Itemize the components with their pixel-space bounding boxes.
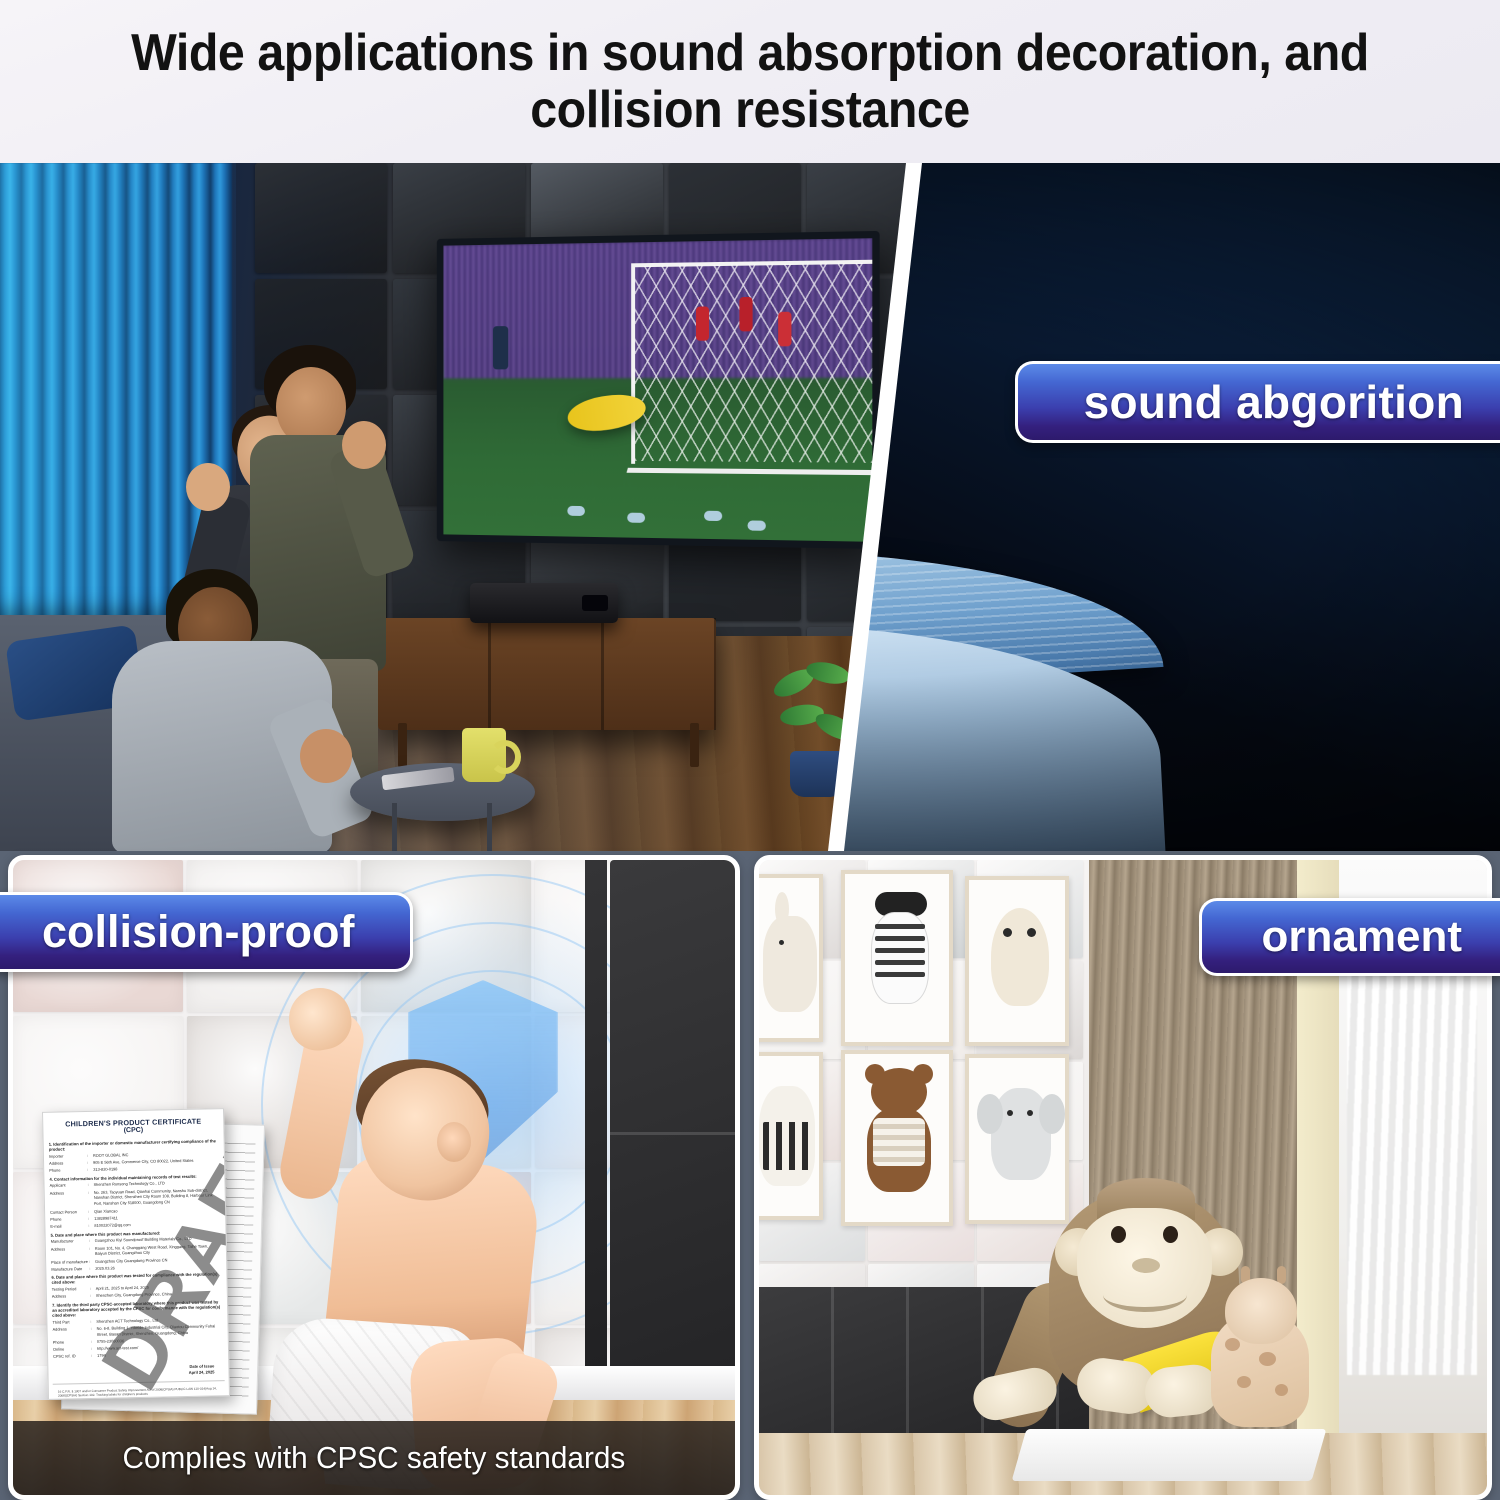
- dark-acoustic-panel: [610, 860, 735, 1420]
- infographic-page: Wide applications in sound absorption de…: [0, 0, 1500, 1500]
- console-leg-left: [398, 723, 407, 767]
- bear-ear-right: [913, 1064, 933, 1084]
- console-leg-right: [690, 723, 699, 767]
- certificate-row-key: Place of manufacture: [51, 1259, 89, 1266]
- laser-projector: [470, 583, 618, 623]
- player-red-3: [779, 312, 792, 347]
- bottom-row: CHILDREN'S PRODUCT CERTIFICATE (CPC) 1. …: [0, 855, 1500, 1500]
- certificate-row-key: Phone: [49, 1167, 87, 1174]
- certificate-row-key: Phone: [50, 1216, 88, 1223]
- elephant-ear-right: [1039, 1094, 1065, 1134]
- certificate-front-page: CHILDREN'S PRODUCT CERTIFICATE (CPC) 1. …: [42, 1108, 230, 1400]
- certificate-row-key: Address: [50, 1190, 88, 1208]
- certificate-row-value: No. 263, Taoyuan Road, Qianhai Community…: [94, 1187, 220, 1207]
- giraffe-spot-2: [1259, 1352, 1276, 1366]
- poster-frame-elephant: [965, 1054, 1069, 1224]
- coffee-mug: [462, 728, 506, 782]
- poster-frame-raccoon: [841, 870, 953, 1046]
- cpsc-caption-text: Complies with CPSC safety standards: [123, 1440, 626, 1476]
- badge-sound-label: sound abgorition: [1084, 375, 1464, 429]
- monkey-eye-left: [1111, 1226, 1126, 1243]
- badge-ornament[interactable]: ornament: [1199, 898, 1500, 976]
- owl-eye-right: [1027, 928, 1036, 937]
- poster-frame-cat: [754, 1052, 823, 1220]
- pitch-litter-4: [748, 521, 766, 531]
- raccoon-stripe-5: [875, 972, 925, 977]
- certificate-row-key: Manufacturer: [51, 1238, 89, 1245]
- goal-net: [635, 262, 872, 462]
- dark-panel-narrow: [585, 860, 607, 1420]
- pitch-litter-3: [704, 511, 722, 521]
- baby-ear: [437, 1122, 471, 1162]
- certificate-footnote: 16 C.F.R. § 1307 and/or Consumer Product…: [53, 1380, 225, 1399]
- bear-ear-left: [865, 1064, 885, 1084]
- elephant-eye-right: [1027, 1110, 1033, 1116]
- raccoon-stripe-3: [875, 948, 925, 953]
- bear-shirt: [873, 1118, 925, 1166]
- rabbit-art: [763, 916, 817, 1012]
- certificate-row-key: Manufacture Date: [51, 1266, 89, 1273]
- pitch-litter-2: [627, 513, 645, 523]
- giraffe-head: [1225, 1278, 1297, 1344]
- poster-frame-bear: [841, 1050, 953, 1226]
- giraffe-spot-1: [1225, 1338, 1240, 1351]
- player-red-2: [739, 297, 752, 331]
- certificate-issue-block: Date of Issue April 24, 2025: [48, 1357, 228, 1380]
- poster-frame-owl: [965, 876, 1069, 1046]
- giraffe-spot-3: [1237, 1376, 1251, 1388]
- giraffe-spot-4: [1275, 1384, 1288, 1396]
- certificate-row-key: Online: [53, 1346, 91, 1353]
- certificate-body: 1. Identification of the importer or dom…: [44, 1136, 229, 1361]
- cpsc-caption-bar: Complies with CPSC safety standards: [13, 1421, 735, 1495]
- certificate-row-key: CPSC ref. ID: [53, 1353, 91, 1360]
- owl-eye-left: [1003, 928, 1012, 937]
- floor-mat: [1012, 1429, 1327, 1481]
- pitch-litter-1: [568, 506, 586, 516]
- badge-collision-label: collision-proof: [42, 906, 354, 958]
- acoustic-panel-tile: [255, 163, 387, 273]
- page-title: Wide applications in sound absorption de…: [53, 25, 1448, 137]
- owl-body: [991, 908, 1049, 1006]
- badge-sound-absorption[interactable]: sound abgorition: [1015, 361, 1500, 443]
- raccoon-stripe-1: [875, 924, 925, 929]
- poster-frame-rabbit: [754, 874, 823, 1042]
- badge-ornament-label: ornament: [1262, 912, 1462, 962]
- certificate-row-key: Third Part: [52, 1319, 90, 1326]
- rabbit-ear: [775, 892, 789, 926]
- player-red-1: [696, 307, 709, 341]
- certificate-row-key: Testing Period: [52, 1286, 90, 1293]
- certificate-row-key: Phone: [53, 1339, 91, 1346]
- monkey-eye-right: [1163, 1226, 1178, 1243]
- certificate-row-key: Contact Person: [50, 1209, 88, 1216]
- monkey-nose: [1132, 1258, 1160, 1273]
- rabbit-eye: [779, 940, 784, 945]
- elephant-ear-left: [977, 1094, 1003, 1134]
- certificate-row-key: Address: [52, 1293, 90, 1300]
- certificate-row-key: Applicant: [49, 1182, 87, 1189]
- raccoon-stripe-4: [875, 960, 925, 965]
- player-dark-1: [493, 326, 508, 369]
- certificate-row-key: E-mail: [50, 1223, 88, 1230]
- television: [437, 231, 880, 549]
- certificate-row-key: Address: [51, 1246, 89, 1259]
- coffee-table-legs: [392, 803, 492, 851]
- monkey-mouth: [1103, 1278, 1187, 1312]
- certificate-row-key: Address: [53, 1326, 91, 1339]
- certificate-row-key: Address: [49, 1160, 87, 1167]
- cat-tooth-row: [763, 1122, 811, 1170]
- raccoon-stripe-2: [875, 936, 925, 941]
- media-console: [378, 618, 716, 730]
- sheer-window-curtain: [1347, 910, 1477, 1375]
- header-banner: Wide applications in sound absorption de…: [0, 0, 1500, 163]
- top-row: sound abgorition: [0, 163, 1500, 851]
- badge-collision-proof[interactable]: collision-proof: [0, 892, 413, 972]
- elephant-eye-left: [1007, 1110, 1013, 1116]
- certificate-row-key: Importer: [49, 1153, 87, 1160]
